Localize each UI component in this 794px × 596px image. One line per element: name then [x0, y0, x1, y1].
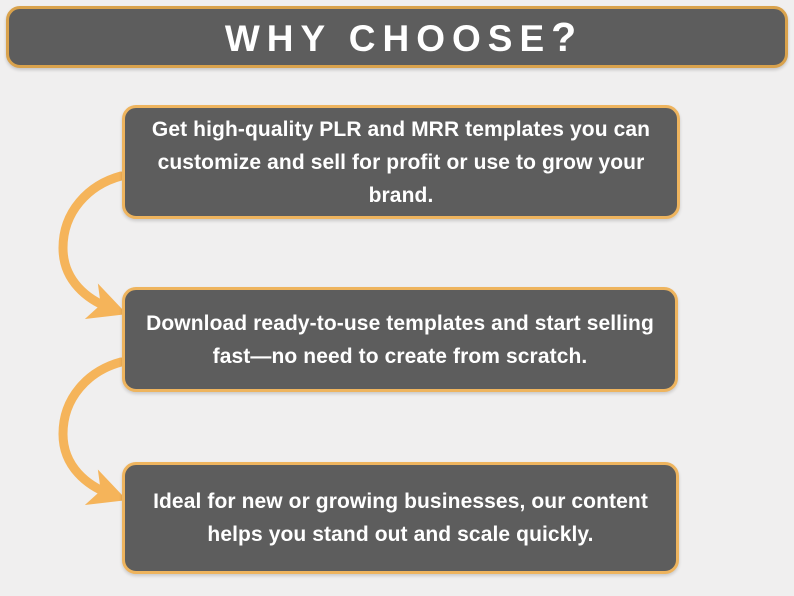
slide-canvas: WHY CHOOSE? Get high-quality PLR and MRR…: [0, 0, 794, 596]
benefit-card-1: Get high-quality PLR and MRR templates y…: [122, 105, 680, 219]
benefit-card-3: Ideal for new or growing businesses, our…: [122, 462, 679, 574]
benefit-card-2: Download ready-to-use templates and star…: [122, 287, 678, 392]
benefit-card-2-text: Download ready-to-use templates and star…: [125, 307, 675, 373]
arrow-2: [63, 362, 121, 494]
benefit-card-3-text: Ideal for new or growing businesses, our…: [125, 485, 676, 551]
benefit-card-1-text: Get high-quality PLR and MRR templates y…: [125, 113, 677, 212]
arrow-1: [63, 176, 121, 308]
